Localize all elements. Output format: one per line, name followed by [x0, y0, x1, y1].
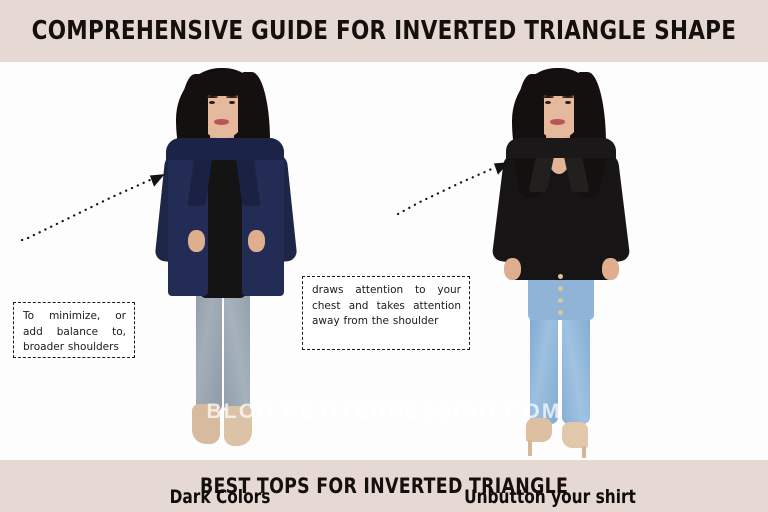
leg-right-1 — [530, 308, 558, 424]
callout-left-text: To minimize, or add balance to, broader … — [23, 309, 126, 356]
callout-right-text: draws attention to your chest and takes … — [312, 283, 461, 330]
hand-right-1 — [504, 258, 521, 280]
jean-button-2 — [558, 286, 563, 291]
callout-box-left: To minimize, or add balance to, broader … — [13, 302, 135, 358]
pointer-arrow-right — [0, 62, 768, 460]
jean-button-1 — [558, 274, 563, 279]
heel-right-2-spike — [582, 446, 586, 458]
models-stage: BLOG.PETITEDRESSING.COM Dark Colors Unbu… — [0, 62, 768, 460]
blouse-shoulder-right — [506, 138, 616, 158]
lips-left — [214, 119, 229, 125]
heel-right-2 — [562, 422, 588, 448]
hair-front-right-3 — [532, 70, 586, 96]
hand-left-1 — [188, 230, 205, 252]
blazer-shoulder-left — [166, 138, 284, 160]
jean-button-4 — [558, 310, 563, 315]
hand-left-2 — [248, 230, 265, 252]
header-banner: COMPREHENSIVE GUIDE FOR INVERTED TRIANGL… — [0, 0, 768, 62]
boot-left-2 — [224, 406, 252, 446]
hair-front-left-3 — [196, 70, 250, 96]
jean-button-3 — [558, 298, 563, 303]
callout-box-right: draws attention to your chest and takes … — [302, 276, 470, 350]
pointer-arrow-left — [0, 62, 768, 460]
leg-right-2 — [562, 308, 590, 424]
heel-right-1-spike — [528, 440, 532, 456]
hand-right-2 — [602, 258, 619, 280]
infographic-canvas: COMPREHENSIVE GUIDE FOR INVERTED TRIANGL… — [0, 0, 768, 512]
caption-dark-colors: Dark Colors — [130, 486, 310, 508]
caption-unbutton-your-shirt: Unbutton your shirt — [442, 486, 658, 508]
page-title: COMPREHENSIVE GUIDE FOR INVERTED TRIANGL… — [32, 16, 737, 46]
heel-right-1 — [526, 418, 552, 442]
boot-left-1 — [192, 404, 220, 444]
lips-right — [550, 119, 565, 125]
site-watermark: BLOG.PETITEDRESSING.COM — [0, 400, 768, 424]
